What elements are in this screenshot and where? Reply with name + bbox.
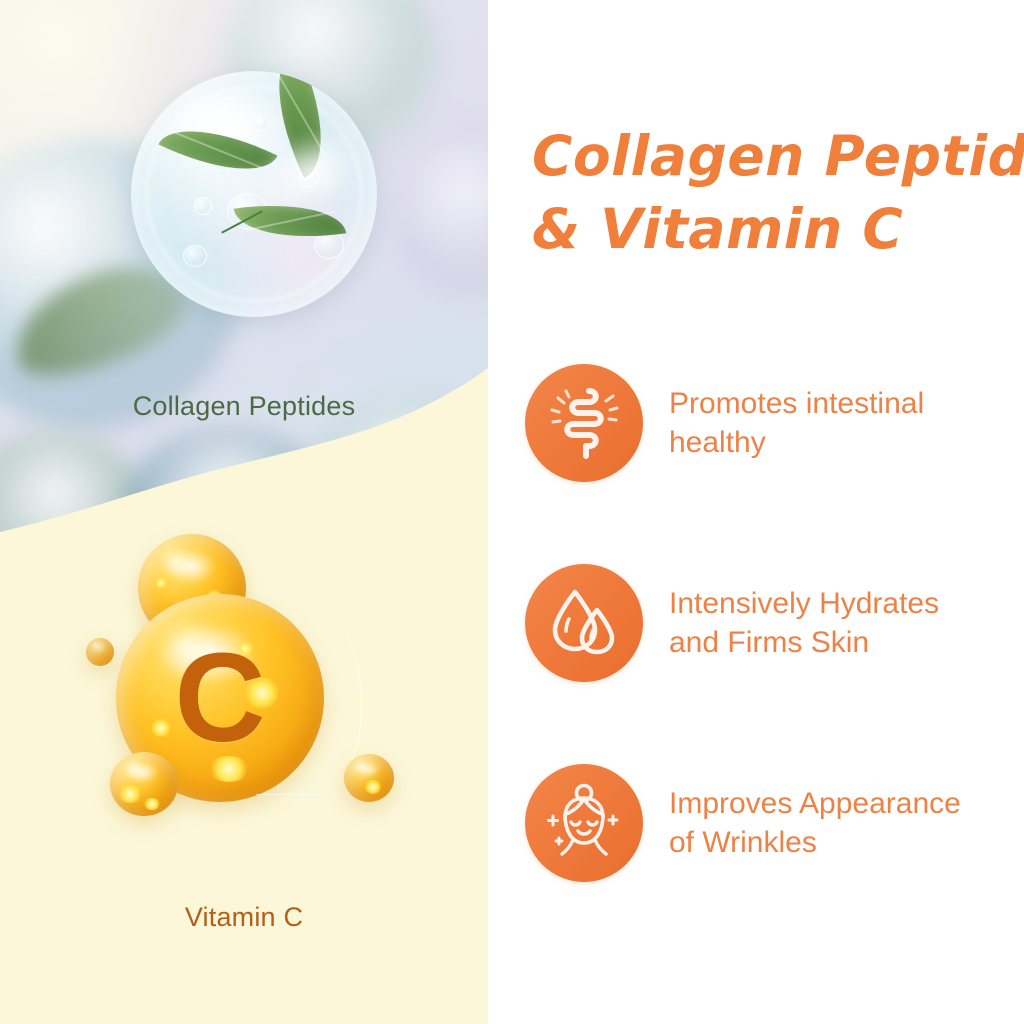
right-content-panel: Collagen Peptides & Vitamin C — [488, 0, 1024, 1024]
vitamin-c-caption: Vitamin C — [0, 902, 488, 933]
highlight — [126, 762, 159, 782]
benefit-text: Promotes intestinal healthy — [669, 384, 924, 462]
left-image-panel: Collagen Peptides — [0, 0, 488, 1024]
benefit-item-hydration: Intensively Hydrates and Firms Skin — [525, 563, 1024, 683]
benefit-line-1: Intensively Hydrates — [669, 584, 939, 623]
benefits-list: Promotes intestinal healthy Intensively … — [525, 363, 1024, 883]
cream-wave-shape — [0, 0, 488, 1024]
benefit-line-2: of Wrinkles — [669, 823, 961, 862]
spark — [143, 798, 161, 810]
benefit-line-2: and Firms Skin — [669, 623, 939, 662]
spark — [364, 780, 382, 794]
page-title: Collagen Peptides & Vitamin C — [532, 120, 1022, 265]
highlight — [92, 642, 106, 652]
water-droplets-icon — [525, 564, 643, 682]
title-line-1: Collagen Peptides — [532, 120, 1022, 193]
vitamin-c-section — [0, 0, 488, 1024]
spark — [118, 785, 142, 803]
highlight — [166, 549, 216, 584]
spark — [155, 577, 167, 589]
product-infographic: Collagen Peptides — [0, 0, 1024, 1024]
title-line-2: & Vitamin C — [532, 193, 1022, 266]
vitamin-droplet-small — [86, 638, 114, 666]
benefit-line-1: Improves Appearance — [669, 784, 961, 823]
face-sparkle-icon — [525, 764, 643, 882]
vitamin-droplet-bottom-right — [344, 754, 394, 802]
benefit-item-wrinkles: Improves Appearance of Wrinkles — [525, 763, 1024, 883]
benefit-line-1: Promotes intestinal — [669, 384, 924, 423]
intestine-icon — [525, 364, 643, 482]
benefit-item-intestinal-health: Promotes intestinal healthy — [525, 363, 1024, 483]
vitamin-c-graphic: C — [86, 528, 416, 858]
benefit-text: Improves Appearance of Wrinkles — [669, 784, 961, 862]
benefit-line-2: healthy — [669, 423, 924, 462]
vitamin-droplet-bottom-left — [110, 752, 178, 816]
benefit-text: Intensively Hydrates and Firms Skin — [669, 584, 939, 662]
highlight — [356, 762, 380, 777]
